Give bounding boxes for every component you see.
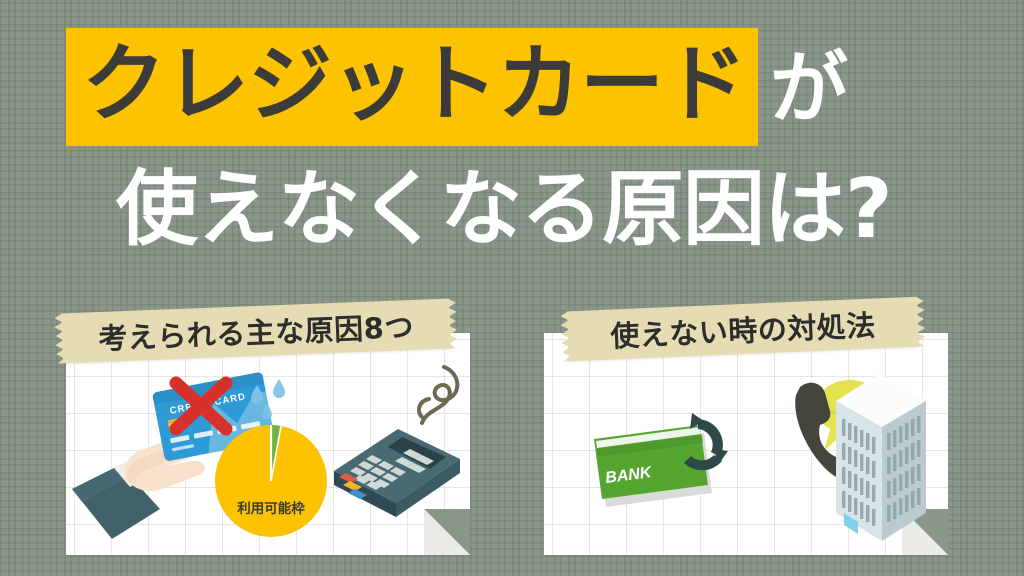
pie-chart-icon <box>215 425 327 537</box>
tape-label-causes-text: 考えられる主な原因8つ <box>97 304 414 358</box>
headline-line-2: 使えなくなる原因は? <box>116 160 892 260</box>
headline-highlight-box: クレジットカード <box>66 28 758 146</box>
headline-highlight-text: クレジットカード <box>82 42 746 126</box>
building-icon <box>836 373 926 541</box>
pie-chart-label: 利用可能枠 <box>237 500 305 517</box>
headline-suffix-text: が <box>770 50 848 128</box>
thumbnail-canvas: クレジットカード が 使えなくなる原因は? <box>0 0 1024 576</box>
terminal-cord-icon <box>419 367 457 423</box>
tape-label-solutions-text: 使えない時の対処法 <box>609 302 876 355</box>
headline-line-1: クレジットカード が <box>66 27 848 147</box>
illustration-card-payment-terminal <box>326 351 466 521</box>
sweat-drops-icon <box>251 379 285 420</box>
illustration-credit-limit-pie-chart: 利用可能枠 <box>209 377 339 547</box>
tape-torn-edge-left <box>49 313 64 363</box>
panel-solutions: BANK <box>544 333 948 555</box>
panel-causes: CREDIT CARD <box>66 333 470 555</box>
illustration-bankbook-refresh: BANK <box>586 411 746 531</box>
terminal-body-icon <box>334 429 460 517</box>
illustration-office-building <box>826 361 941 546</box>
headline-block: クレジットカード が 使えなくなる原因は? <box>0 0 1024 290</box>
